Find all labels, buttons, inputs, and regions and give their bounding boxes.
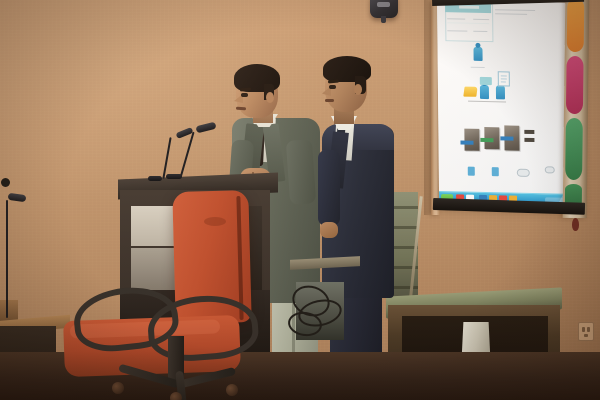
left-microphone-stand xyxy=(6,200,8,318)
slide-server-label-1 xyxy=(524,130,534,134)
slide-device-1 xyxy=(468,167,475,176)
speaker-arm-right xyxy=(286,139,316,205)
second-man-mouth xyxy=(325,99,334,102)
slide-server-2 xyxy=(484,127,499,149)
projection-screen xyxy=(437,0,582,210)
chair-caster-front xyxy=(170,392,182,400)
speaker-mouth xyxy=(236,107,246,111)
chair-caster-right xyxy=(226,384,238,396)
microphone-1-base xyxy=(166,174,182,179)
slide-server-1 xyxy=(464,129,479,151)
speaker-grille xyxy=(377,2,390,7)
slide-server-label-2 xyxy=(524,138,534,142)
slide-device-2 xyxy=(492,167,499,176)
decorative-banner xyxy=(563,0,590,218)
banner-tassel xyxy=(572,218,579,231)
second-man-arm xyxy=(318,150,340,226)
power-outlet-icon xyxy=(578,322,594,341)
chair-back-dimple xyxy=(204,217,226,226)
banner-ribbon-pink xyxy=(566,56,584,114)
slide-table-header-text xyxy=(459,5,479,8)
left-microphone-knob xyxy=(1,178,10,187)
microphone-2-base xyxy=(148,176,162,181)
slide-cloud-icon-2 xyxy=(545,166,555,173)
chair-caster-left xyxy=(112,382,124,394)
second-man-eye xyxy=(329,85,336,89)
second-man-hand xyxy=(320,222,338,238)
slide-tag-cyan xyxy=(480,77,492,85)
slide-server-3 xyxy=(504,125,519,150)
speaker-mount xyxy=(381,16,386,23)
speaker-ear xyxy=(266,92,274,103)
photo-scene xyxy=(0,0,600,400)
banner-ribbon-orange xyxy=(567,0,585,52)
second-man-ear xyxy=(354,84,362,95)
slide-folder-icon xyxy=(464,87,477,97)
banner-ribbon-green xyxy=(565,118,583,180)
slide-person-icon-mid xyxy=(480,85,489,99)
slide-document-icon xyxy=(498,71,510,86)
slide-person-icon-right xyxy=(496,85,505,99)
speaker-eye xyxy=(241,93,248,97)
slide-cloud-icon xyxy=(517,169,530,177)
slide-person-icon-top xyxy=(473,47,482,61)
